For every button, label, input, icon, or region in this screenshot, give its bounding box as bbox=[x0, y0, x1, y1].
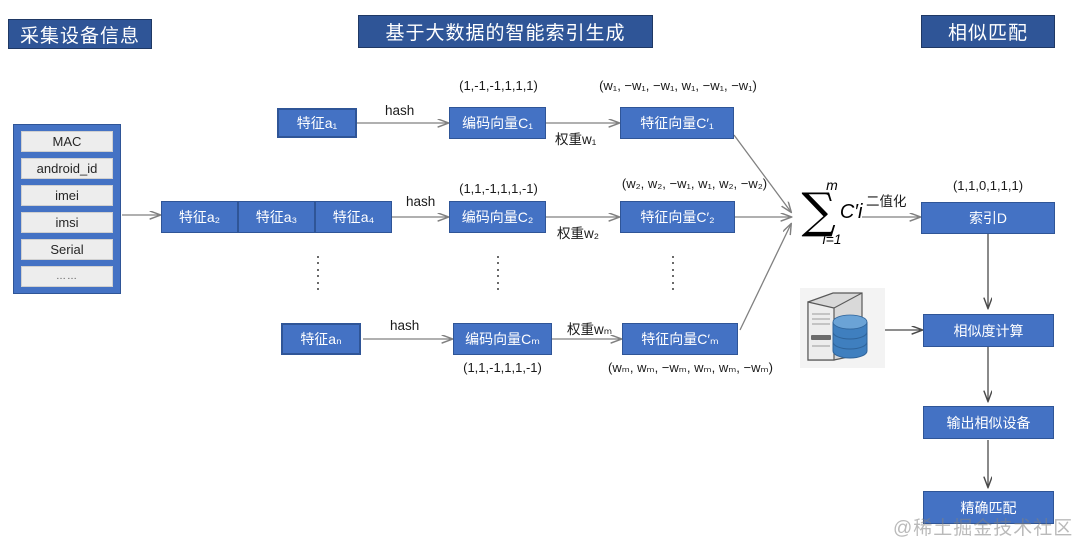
code-vector-value-cm: (1,1,-1,1,1,-1) bbox=[420, 360, 585, 375]
feature-vector-value-c1p: (w₁, −w₁, −w₁, w₁, −w₁, −w₁) bbox=[573, 78, 783, 93]
feature-vector-value-cmp: (wₘ, wₘ, −wₘ, wₘ, wₘ, −wₘ) bbox=[588, 360, 793, 376]
hash-label-row3: hash bbox=[390, 318, 419, 333]
watermark: @稀土掘金技术社区 bbox=[893, 513, 1073, 540]
banner-index-generation: 基于大数据的智能索引生成 bbox=[358, 15, 653, 48]
code-vector-box-cm: 编码向量Cₘ bbox=[453, 323, 552, 355]
feature-box-a2: 特征a₂ bbox=[161, 201, 238, 233]
summation-term: C′i bbox=[840, 202, 863, 222]
feature-vector-value-c2p: (w₂, w₂, −w₁, w₁, w₂, −w₂) bbox=[597, 176, 792, 191]
device-item-android-id: android_id bbox=[21, 158, 113, 179]
ellipsis-column-feature-vectors bbox=[671, 256, 675, 290]
hash-label-row2: hash bbox=[406, 194, 435, 209]
index-vector-value: (1,1,0,1,1,1) bbox=[921, 178, 1055, 193]
feature-vector-box-c2p: 特征向量C′₂ bbox=[620, 201, 735, 233]
feature-box-an: 特征aₙ bbox=[281, 323, 361, 355]
device-info-list: MAC android_id imei imsi Serial …… bbox=[13, 124, 121, 294]
banner-similar-match: 相似匹配 bbox=[921, 15, 1055, 48]
output-similar-devices-box: 输出相似设备 bbox=[923, 406, 1054, 439]
weight-label-wm: 权重wₘ bbox=[567, 318, 612, 338]
database-server-icon bbox=[800, 288, 885, 368]
hash-label-row1: hash bbox=[385, 103, 414, 118]
diagram-canvas: 采集设备信息 基于大数据的智能索引生成 相似匹配 MAC android_id … bbox=[0, 0, 1080, 553]
weight-label-w1: 权重w₁ bbox=[555, 128, 596, 148]
device-item-imsi: imsi bbox=[21, 212, 113, 233]
code-vector-value-c2: (1,1,-1,1,1,-1) bbox=[416, 181, 581, 196]
summation-lower-limit: i=1 bbox=[822, 232, 841, 246]
ellipsis-column-features bbox=[316, 256, 320, 290]
summation-symbol: m ∑ C′i i=1 bbox=[797, 178, 867, 258]
feature-box-a4: 特征a₄ bbox=[315, 201, 392, 233]
feature-box-a3: 特征a₃ bbox=[238, 201, 315, 233]
index-box: 索引D bbox=[921, 202, 1055, 234]
code-vector-box-c1: 编码向量C₁ bbox=[449, 107, 546, 139]
weight-label-w2: 权重w₂ bbox=[557, 222, 599, 242]
feature-vector-box-cmp: 特征向量C′ₘ bbox=[622, 323, 738, 355]
feature-vector-box-c1p: 特征向量C′₁ bbox=[620, 107, 734, 139]
feature-box-a1: 特征a₁ bbox=[277, 108, 357, 138]
device-item-mac: MAC bbox=[21, 131, 113, 152]
binarize-label: 二值化 bbox=[866, 190, 907, 210]
device-item-serial: Serial bbox=[21, 239, 113, 260]
device-item-imei: imei bbox=[21, 185, 113, 206]
similarity-calc-box: 相似度计算 bbox=[923, 314, 1054, 347]
summation-body: ∑ C′i bbox=[802, 190, 863, 233]
sigma-glyph: ∑ bbox=[802, 190, 836, 233]
device-item-ellipsis: …… bbox=[21, 266, 113, 287]
ellipsis-column-code-vectors bbox=[496, 256, 500, 290]
code-vector-value-c1: (1,-1,-1,1,1,1) bbox=[416, 78, 581, 93]
banner-collect-device-info: 采集设备信息 bbox=[8, 19, 152, 49]
code-vector-box-c2: 编码向量C₂ bbox=[449, 201, 546, 233]
